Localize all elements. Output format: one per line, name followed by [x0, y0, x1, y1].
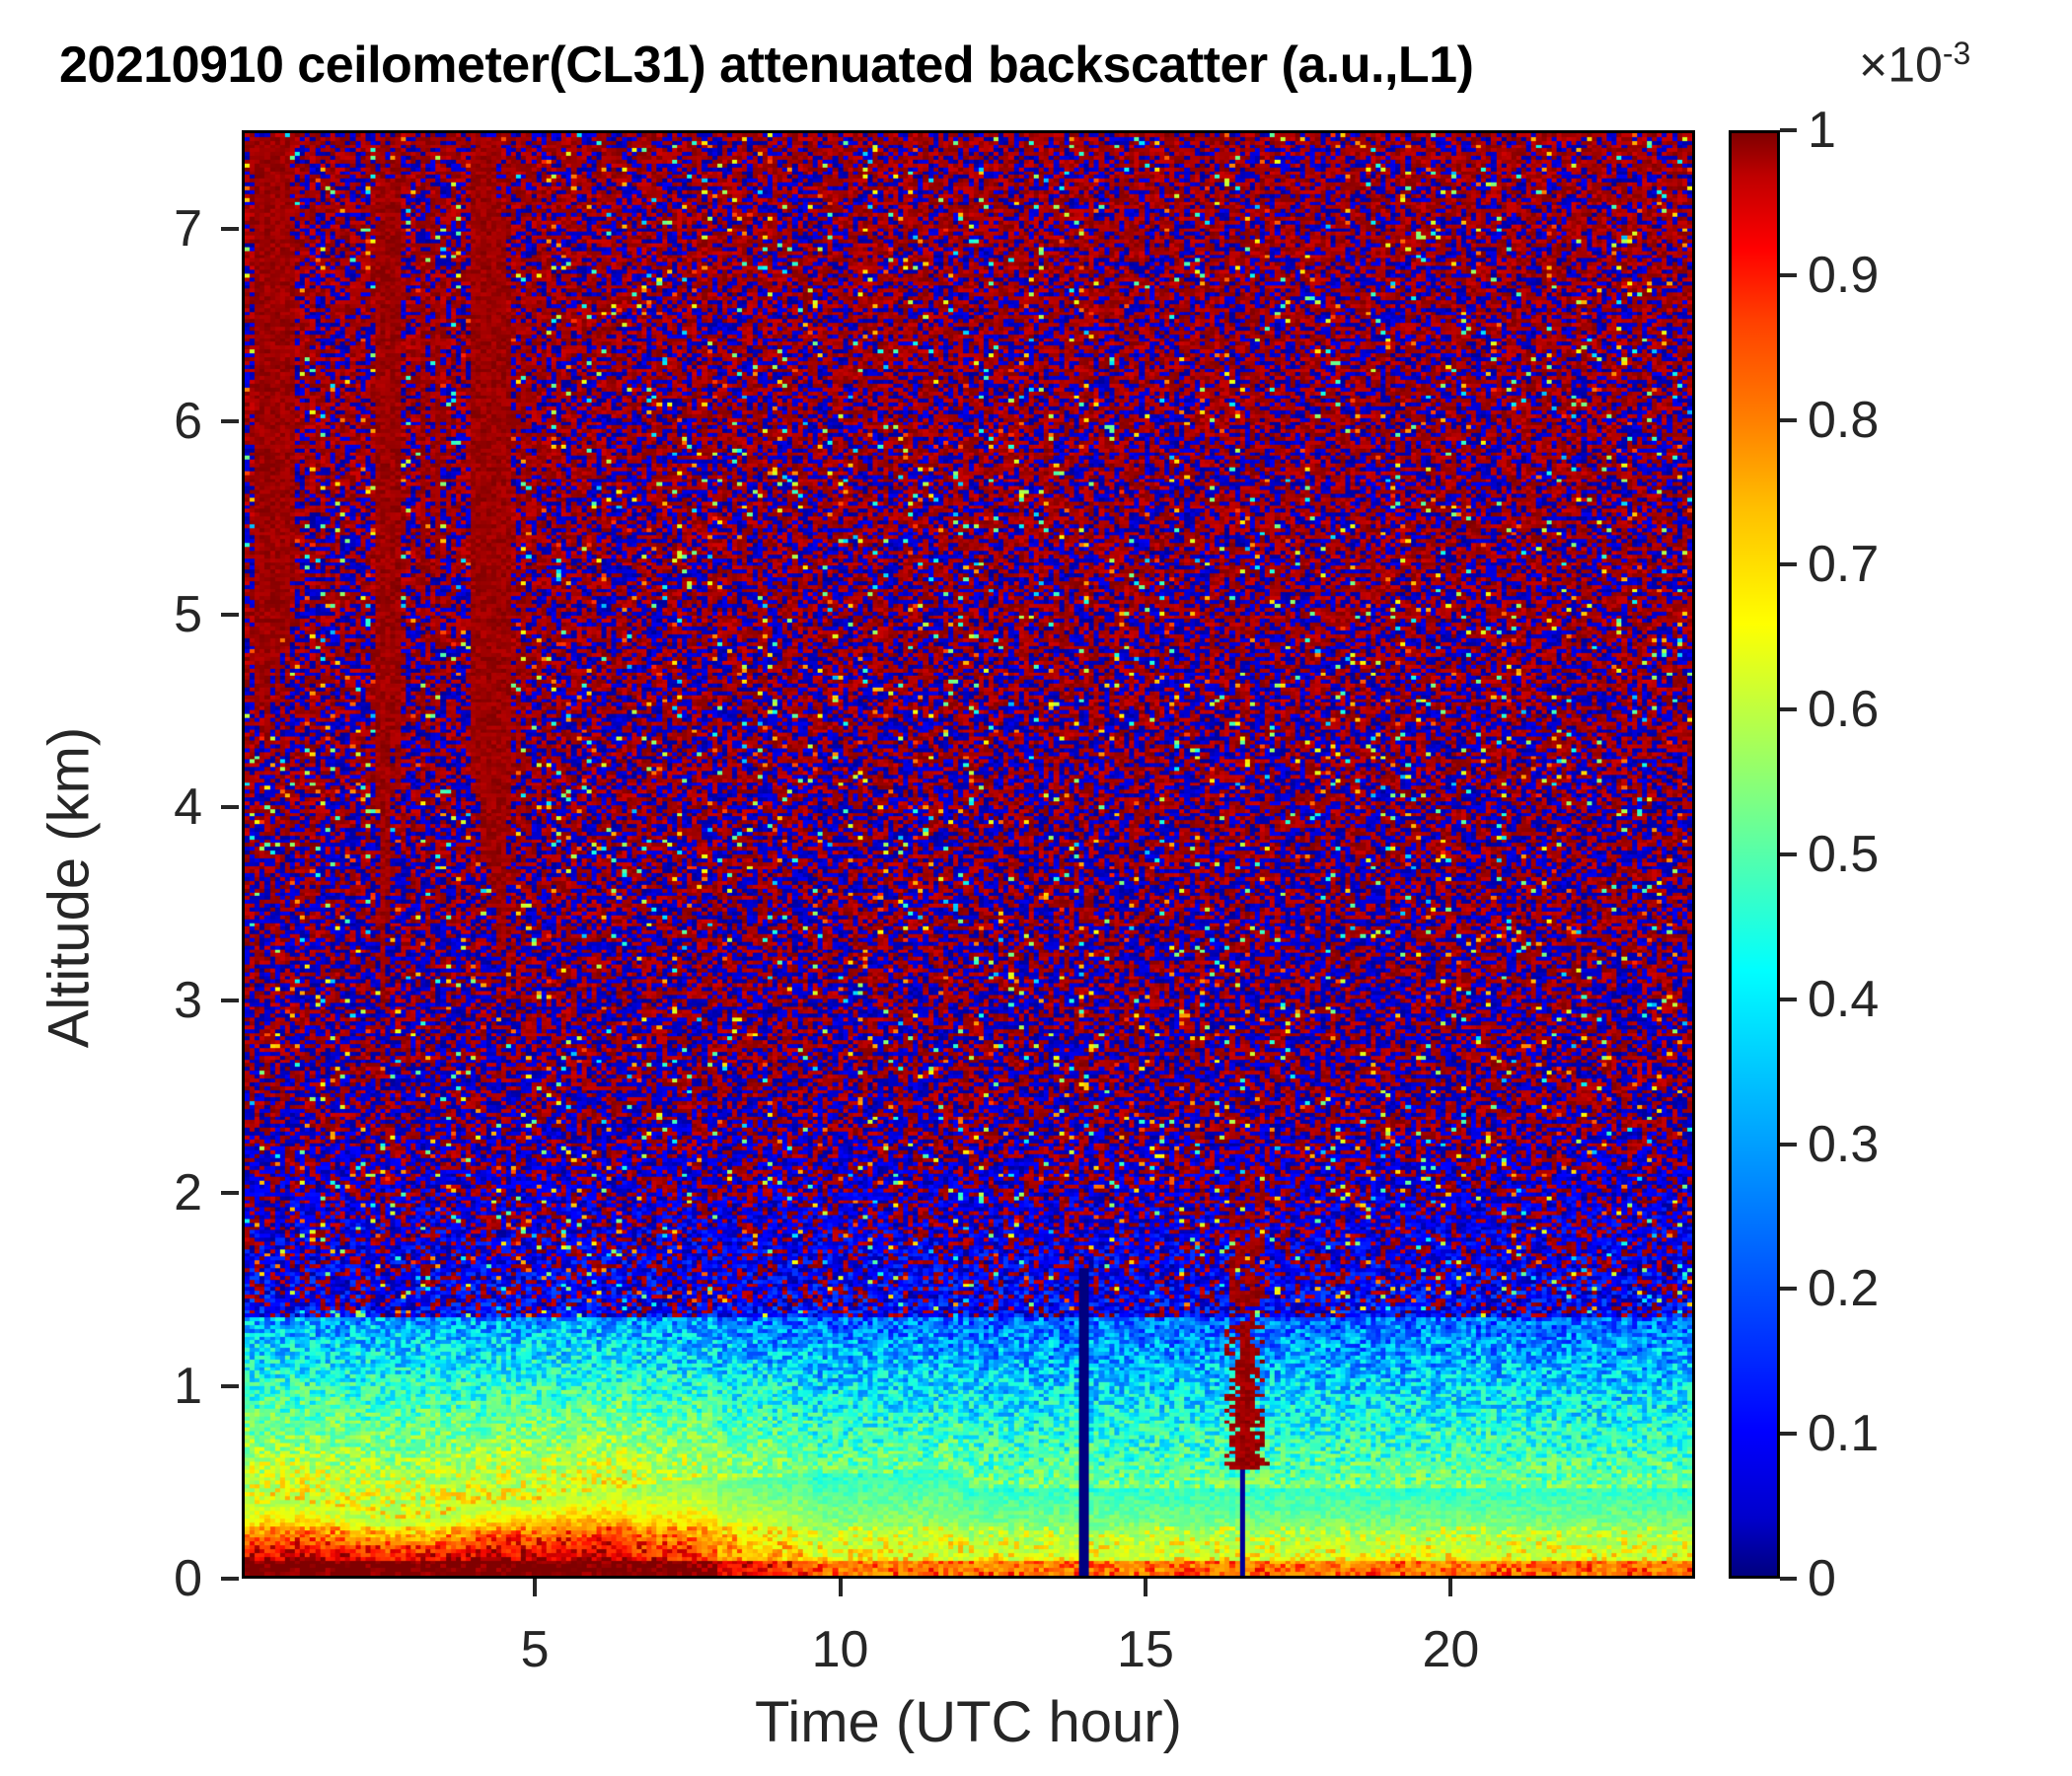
colorbar-tick-mark: [1780, 1577, 1797, 1581]
colorbar-exponent-label: ×10-3: [1859, 36, 1970, 94]
colorbar-tick-label: 0.7: [1808, 535, 1879, 594]
colorbar-tick-mark: [1780, 273, 1797, 277]
y-axis-tick-label: 6: [0, 392, 202, 451]
y-axis-tick-label: 1: [0, 1357, 202, 1416]
colorbar-tick-mark: [1780, 128, 1797, 132]
y-axis-tick-mark: [221, 613, 239, 617]
x-axis-tick-mark: [533, 1579, 537, 1596]
colorbar-tick-label: 0.3: [1808, 1115, 1879, 1174]
x-axis-tick-mark: [1144, 1579, 1147, 1596]
colorbar-tick-mark: [1780, 998, 1797, 1001]
colorbar-tick-label: 0.4: [1808, 970, 1879, 1029]
x-axis-tick-label: 20: [1423, 1620, 1480, 1679]
colorbar-tick-mark: [1780, 1143, 1797, 1147]
y-axis-tick-mark: [221, 1577, 239, 1581]
x-axis-tick-label: 15: [1117, 1620, 1174, 1679]
colorbar-exponent-power: -3: [1943, 36, 1970, 71]
colorbar-tick-label: 0: [1808, 1549, 1836, 1608]
y-axis-tick-mark: [221, 805, 239, 809]
y-axis-title: Altitude (km): [37, 592, 103, 1184]
colorbar-tick-mark: [1780, 852, 1797, 856]
y-axis-tick-mark: [221, 1384, 239, 1388]
y-axis-tick-label: 0: [0, 1549, 202, 1608]
colorbar-gradient: [1729, 130, 1780, 1579]
y-axis-tick-mark: [221, 227, 239, 231]
page-title: 20210910 ceilometer(CL31) attenuated bac…: [59, 36, 1473, 95]
colorbar-exponent-mantissa: ×10: [1859, 37, 1943, 93]
x-axis-tick-mark: [1448, 1579, 1452, 1596]
colorbar-tick-label: 0.2: [1808, 1259, 1879, 1318]
colorbar-container: 10.90.80.70.60.50.40.30.20.10: [1729, 130, 1780, 1579]
y-axis-tick-label: 7: [0, 199, 202, 259]
colorbar-tick-label: 1: [1808, 101, 1836, 160]
colorbar-tick-label: 0.6: [1808, 680, 1879, 739]
colorbar-tick-mark: [1780, 418, 1797, 422]
y-axis-tick-mark: [221, 999, 239, 1002]
colorbar-tick-mark: [1780, 562, 1797, 566]
y-axis-tick-mark: [221, 1191, 239, 1195]
colorbar-tick-label: 0.5: [1808, 825, 1879, 884]
x-axis-title: Time (UTC hour): [0, 1689, 1937, 1755]
x-axis-tick-label: 5: [521, 1620, 550, 1679]
colorbar-tick-mark: [1780, 1287, 1797, 1291]
colorbar-tick-mark: [1780, 707, 1797, 711]
backscatter-heatmap: [245, 133, 1692, 1576]
heatmap-plot-area: [242, 130, 1695, 1579]
x-axis-tick-mark: [839, 1579, 843, 1596]
colorbar-tick-mark: [1780, 1432, 1797, 1436]
colorbar-tick-label: 0.9: [1808, 246, 1879, 305]
colorbar-tick-label: 0.1: [1808, 1404, 1879, 1463]
colorbar-tick-label: 0.8: [1808, 391, 1879, 450]
y-axis-tick-mark: [221, 419, 239, 423]
x-axis-tick-label: 10: [812, 1620, 869, 1679]
